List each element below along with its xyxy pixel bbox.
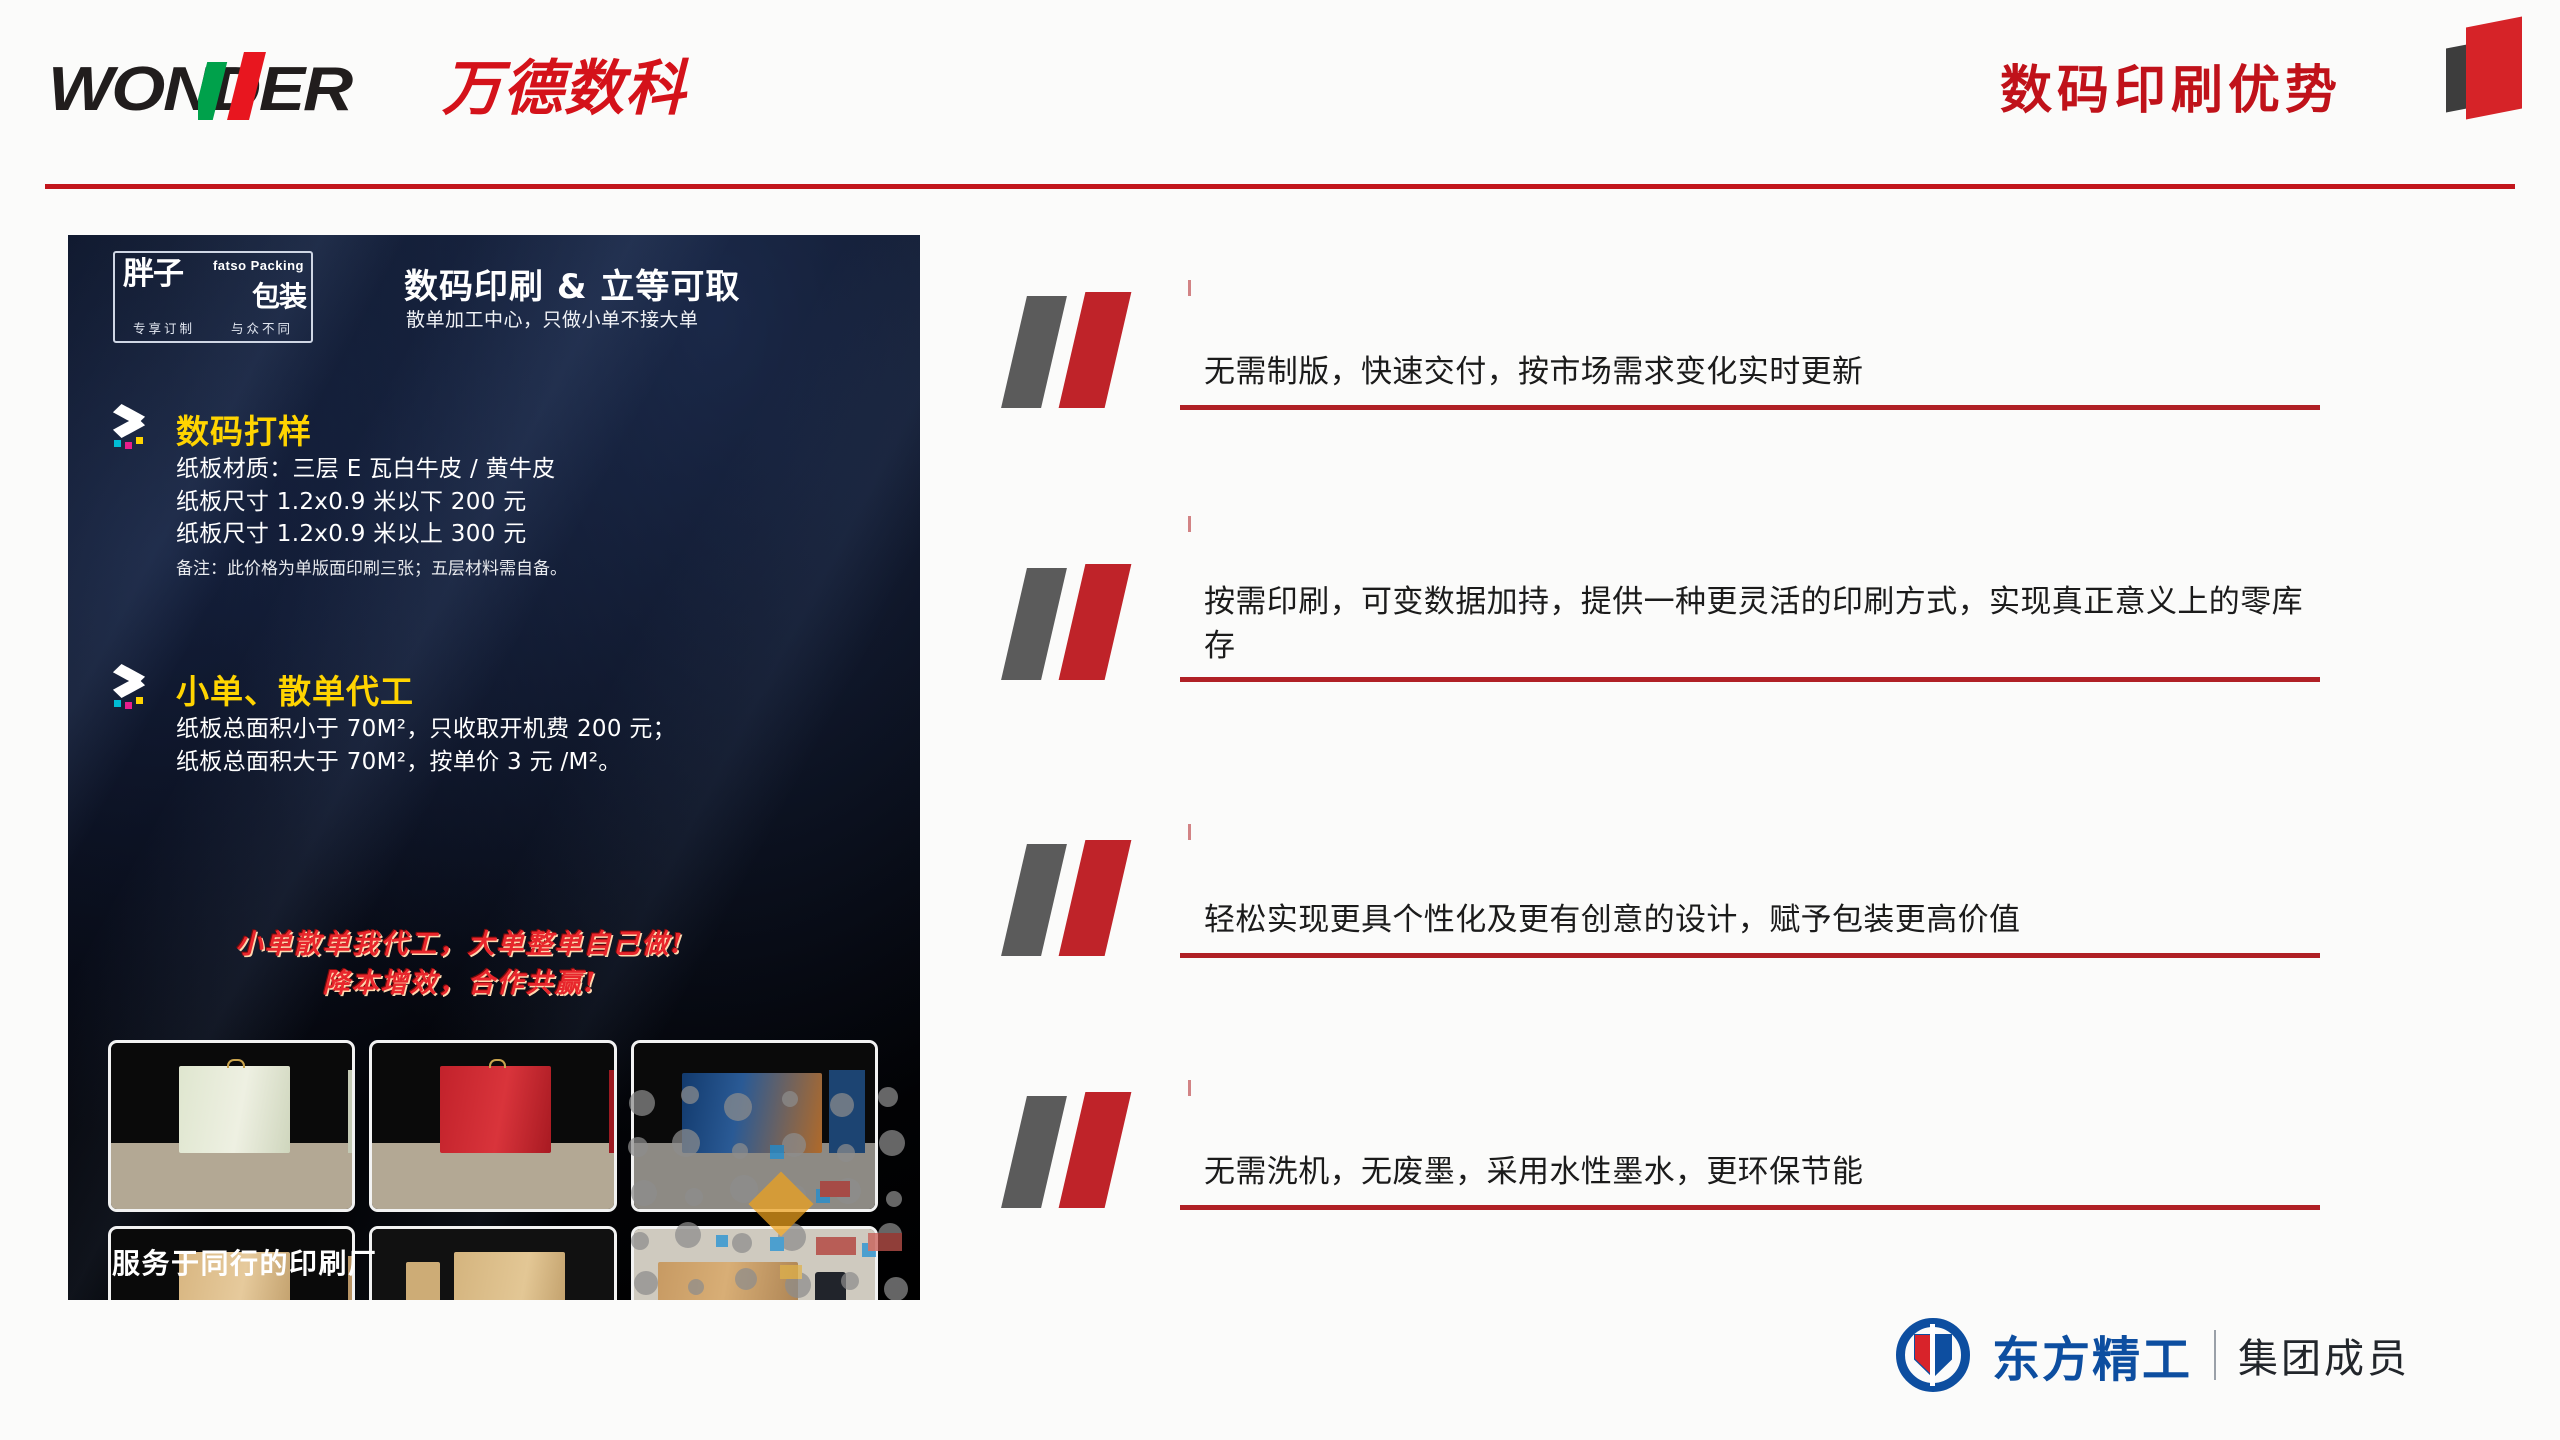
poster-subheadline: 散单加工中心，只做小单不接大单 [406, 305, 886, 332]
advantage-text: 无需洗机，无废墨，采用水性墨水，更环保节能 [1204, 1150, 2334, 1194]
advantage-text: 按需印刷，可变数据加持，提供一种更灵活的印刷方式，实现真正意义上的零库存 [1204, 580, 2334, 668]
chevron-bars-icon [1010, 564, 1190, 682]
advantage-item-4: 无需洗机，无废墨，采用水性墨水，更环保节能 [1010, 1090, 2320, 1210]
promo-poster-image: 胖子 fatso Packing 包装 专享订制 与众不同 数码印刷 & 立等可… [68, 235, 920, 1300]
poster-headline: 数码印刷 & 立等可取 [404, 259, 884, 308]
section-line: 纸板尺寸 1.2x0.9 米以下 200 元 [176, 486, 890, 519]
footer-logo: 东方精工 集团成员 [1896, 1318, 2410, 1392]
brand-chinese-name: 万德数科 [442, 61, 686, 118]
poster-section-small-orders: 小单、散单代工 纸板总面积小于 70M²，只收取开机费 200 元； 纸板总面积… [110, 665, 890, 778]
gallery-item [369, 1226, 616, 1300]
section-line: 纸板总面积小于 70M²，只收取开机费 200 元； [176, 713, 890, 746]
advantage-item-1: 无需制版，快速交付，按市场需求变化实时更新 [1010, 290, 2320, 410]
dot-pattern-decoration-icon [620, 1085, 920, 1300]
section-note: 备注：此价格为单版面印刷三张；五层材料需自备。 [176, 554, 890, 579]
section-line: 纸板尺寸 1.2x0.9 米以上 300 元 [176, 518, 890, 551]
fatso-tag-right: 与众不同 [231, 318, 293, 337]
header-divider [45, 184, 2515, 189]
slogan-line-2: 降本增效，合作共赢! [110, 964, 810, 1003]
double-chevron-icon [110, 666, 162, 712]
gallery-item [369, 1040, 616, 1212]
chevron-bars-icon [1010, 1092, 1190, 1210]
dongfang-emblem-icon [1896, 1318, 1970, 1392]
gallery-item [108, 1040, 355, 1212]
double-chevron-icon [110, 406, 162, 452]
fatso-tag-left: 专享订制 [133, 318, 195, 337]
slogan-line-1: 小单散单我代工，大单整单自己做! [110, 925, 810, 964]
advantage-item-2: 按需印刷，可变数据加持，提供一种更灵活的印刷方式，实现真正意义上的零库存 [1010, 522, 2320, 682]
section-title: 小单、散单代工 [176, 665, 414, 713]
chevron-bars-icon [1010, 840, 1190, 958]
fatso-logo-cn2: 包装 [252, 275, 306, 315]
wonder-wordmark: WONDER [48, 54, 428, 118]
section-title: 数码打样 [176, 405, 312, 453]
footer-divider [2214, 1330, 2216, 1380]
fatso-logo-en: fatso Packing [213, 258, 304, 273]
section-line: 纸板材质：三层 E 瓦白牛皮 / 黄牛皮 [176, 453, 890, 486]
chevron-bars-icon [1010, 292, 1190, 410]
poster-caption: 服务于同行的印刷厂 [112, 1242, 378, 1282]
footer-member-label: 集团成员 [2238, 1326, 2410, 1384]
footer-company-name: 东方精工 [1992, 1320, 2192, 1390]
page-title: 数码印刷优势 [2000, 48, 2342, 123]
poster-section-digital-proofing: 数码打样 纸板材质：三层 E 瓦白牛皮 / 黄牛皮 纸板尺寸 1.2x0.9 米… [110, 405, 890, 579]
advantage-text: 轻松实现更具个性化及更有创意的设计，赋予包装更高价值 [1204, 898, 2334, 942]
slide-canvas: WONDER 万德数科 数码印刷优势 胖子 fatso Packing 包装 专… [0, 0, 2560, 1440]
advantage-text: 无需制版，快速交付，按市场需求变化实时更新 [1204, 350, 2334, 394]
section-line: 纸板总面积大于 70M²，按单价 3 元 /M²。 [176, 746, 890, 779]
wonder-latin-text: WONDER [48, 54, 351, 125]
corner-decoration-icon [2420, 8, 2538, 112]
brand-logo: WONDER 万德数科 [48, 44, 686, 118]
fatso-logo: 胖子 fatso Packing 包装 专享订制 与众不同 [113, 251, 313, 343]
advantage-item-3: 轻松实现更具个性化及更有创意的设计，赋予包装更高价值 [1010, 838, 2320, 958]
poster-slogan: 小单散单我代工，大单整单自己做! 降本增效，合作共赢! [110, 925, 810, 1003]
